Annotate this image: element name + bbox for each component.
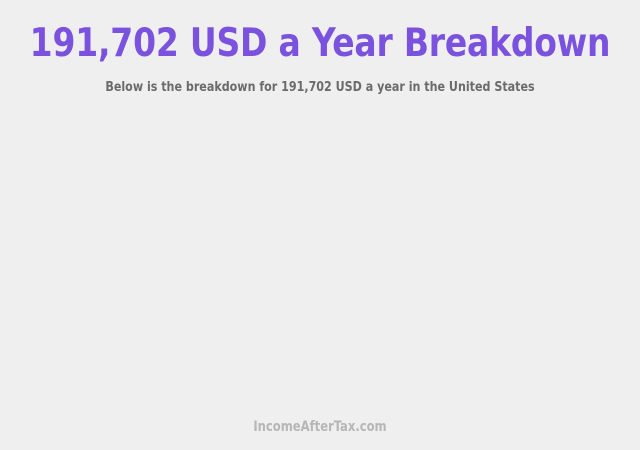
page-title: 191,702 USD a Year Breakdown [19, 22, 621, 66]
page-subtitle: Below is the breakdown for 191,702 USD a… [16, 66, 624, 96]
breakdown-content-area [0, 96, 640, 419]
page-header: 191,702 USD a Year Breakdown Below is th… [0, 0, 640, 96]
site-watermark: IncomeAfterTax.com [26, 419, 615, 436]
breakdown-page: 191,702 USD a Year Breakdown Below is th… [0, 0, 640, 450]
page-footer: IncomeAfterTax.com [0, 419, 640, 450]
